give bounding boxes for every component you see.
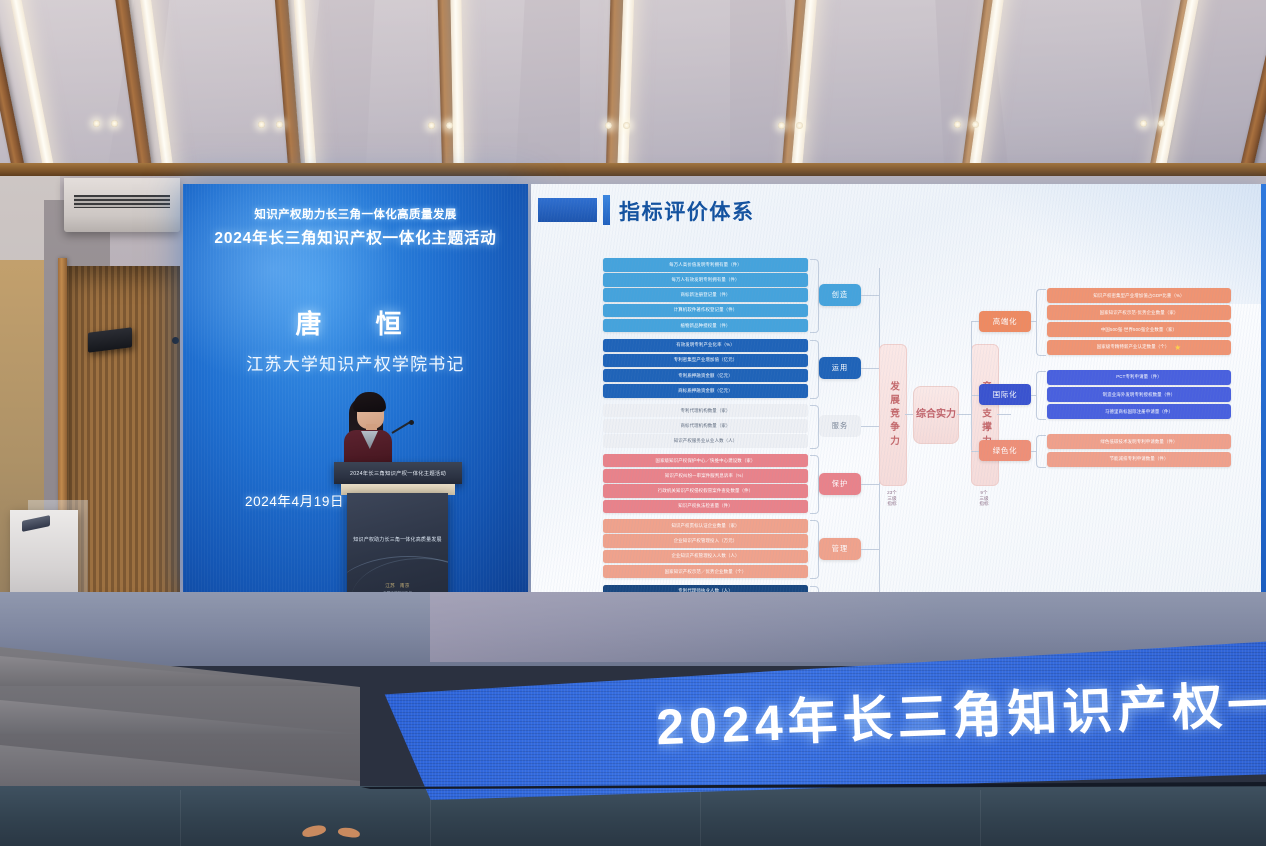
ceiling-downlight — [796, 122, 803, 129]
indicator-group-高端化: 高端化 — [979, 311, 1031, 332]
indicator-row: 植物新品种授权量（件） — [603, 319, 808, 333]
conference-photo: 知识产权助力长三角一体化高质量发展 2024年长三角知识产权一体化主题活动 唐 … — [0, 0, 1266, 846]
indicator-row: 每万人高价值发明专利拥有量（件） — [603, 258, 808, 272]
indicator-row: 商标代理机构数量（家） — [603, 419, 808, 433]
ceiling-downlight — [778, 122, 785, 129]
indicator-group-运用: 运用 — [819, 357, 861, 379]
indicator-row: 商标新注册登记量（件） — [603, 288, 808, 302]
indicator-group-创造: 创造 — [819, 284, 861, 306]
ceiling-downlight — [428, 122, 435, 129]
slide-title-block — [538, 198, 597, 222]
pillar-industrial-support: 产业支撑力 — [971, 344, 999, 486]
indicator-row: 知识产权执法检查量（件） — [603, 500, 808, 514]
title-screen-main-title: 2024年长三角知识产权一体化主题活动 — [183, 226, 528, 248]
diagram-connector — [861, 549, 879, 550]
indicator-row: 知识产权贯标认证企业数量（家） — [603, 519, 808, 533]
ceiling-downlight — [258, 121, 265, 128]
indicator-row: 国家知识产权示范·优势企业数量（家） — [1047, 305, 1231, 320]
indicator-row: 计算机软件著作权登记量（件） — [603, 304, 808, 318]
indicator-row: 企业知识产权管理投入（万元） — [603, 534, 808, 548]
indicator-row: PCT专利申请量（件） — [1047, 370, 1231, 385]
indicator-row: 有效发明专利产业化率（%） — [603, 339, 808, 353]
wall-fixture-icon — [172, 337, 179, 344]
indicator-row: 专利质押融资金额（亿元） — [603, 369, 808, 383]
indicator-row: 知识产权纠纷一审案件服判息诉率（%） — [603, 469, 808, 483]
diagram-connector — [861, 295, 879, 296]
slide-title: 指标评价体系 — [619, 196, 755, 226]
ceiling-downlight — [446, 122, 453, 129]
diagram-connector — [861, 368, 879, 369]
screen-right-edge — [1261, 184, 1266, 594]
title-screen-date: 2024年4月19日 — [245, 490, 344, 510]
air-vent-grille — [74, 195, 170, 208]
pillar-comprehensive-strength: 综合实力 — [913, 386, 959, 444]
indicator-row: 企业知识产权管理投入人数（人） — [603, 550, 808, 564]
indicator-row: 专利代理机构数量（家） — [603, 404, 808, 418]
indicator-row: 知识产权密集型产业增加值占GDP比重（%） — [1047, 288, 1231, 303]
pillar-left-count-note: 23个 三级 指标 — [875, 490, 909, 507]
indicator-row: 国家级知识产权保护中心／快维中心建设数（家） — [603, 454, 808, 468]
indicator-group-服务: 服务 — [819, 415, 861, 437]
indicator-row: 专利密集型产业增加值（亿元） — [603, 354, 808, 368]
ceiling-downlight — [605, 122, 612, 129]
diagram-bracket — [1036, 371, 1046, 420]
diagram-connector — [971, 395, 979, 396]
slide-corner-shade — [966, 184, 1266, 304]
slide-title-tick — [603, 195, 610, 225]
ceiling-edge-trim — [0, 163, 1266, 176]
diagram-connector — [1031, 395, 1036, 396]
diagram-connector — [957, 414, 971, 415]
diagram-connector — [1031, 451, 1036, 452]
speaker-hair-top — [353, 392, 386, 412]
ceiling-downlight — [972, 121, 979, 128]
microphone-head — [409, 420, 414, 425]
diagram-connector — [971, 451, 979, 452]
ceiling-downlight — [1158, 120, 1165, 127]
lectern-signature: 江苏 南京 — [347, 583, 448, 589]
indicator-row: 行政机关知识产权侵权假冒案件查处数量（件） — [603, 484, 808, 498]
ceiling-downlight — [954, 121, 961, 128]
ceiling-downlight — [276, 121, 283, 128]
indicator-row: 国家级专精特新产业认定数量（个）★ — [1047, 340, 1231, 355]
pillar-development-competitiveness: 发展竞争力 — [879, 344, 907, 486]
diagram-connector — [971, 321, 979, 322]
presentation-led-screen: 指标评价体系 每万人高价值发明专利拥有量（件）每万人有效发明专利拥有量（件）商标… — [531, 184, 1266, 594]
diagram-bracket — [1036, 289, 1046, 356]
lectern-top-banner: 2024年长三角知识产权一体化主题活动 — [334, 469, 462, 477]
hall-floor — [0, 786, 1266, 846]
diagram-connector — [997, 414, 1011, 415]
pillar-right-count-note: 9个 三级 指标 — [967, 490, 1001, 507]
diagram-connector — [1031, 321, 1036, 322]
ceiling — [0, 0, 1266, 176]
indicator-row: 商标质押融资金额（亿元） — [603, 384, 808, 398]
diagram-bracket — [810, 340, 819, 399]
diagram-spine — [971, 321, 972, 450]
indicator-row: 绿色低碳技术发明专利申请数量（件） — [1047, 434, 1231, 449]
star-icon: ★ — [1174, 343, 1181, 352]
indicator-row: 国家知识产权示范／优势企业数量（个） — [603, 565, 808, 579]
indicator-group-保护: 保护 — [819, 473, 861, 495]
diagram-bracket — [810, 259, 819, 333]
ceiling-downlight — [111, 120, 118, 127]
diagram-connector — [905, 414, 913, 415]
indicator-row: 中国500强·世界500强企业数量（家） — [1047, 322, 1231, 337]
title-screen-speaker-role: 江苏大学知识产权学院书记 — [183, 350, 528, 375]
diagram-bracket — [1036, 435, 1046, 467]
indicator-row: 每万人有效发明专利拥有量（件） — [603, 273, 808, 287]
indicator-row: 马德里商标国际注册申请量（件） — [1047, 404, 1231, 419]
diagram-connector — [861, 484, 879, 485]
diagram-connector — [861, 426, 879, 427]
title-screen-speaker-name: 唐 恒 — [183, 304, 528, 341]
indicator-row: 制造业海外发明专利授权数量（件） — [1047, 387, 1231, 402]
ceiling-downlight — [93, 120, 100, 127]
title-screen-subtitle: 知识产权助力长三角一体化高质量发展 — [183, 206, 528, 222]
indicator-group-绿色化: 绿色化 — [979, 440, 1031, 461]
ceiling-beam — [1231, 0, 1266, 176]
indicator-group-国际化: 国际化 — [979, 384, 1031, 405]
diagram-bracket — [810, 405, 819, 449]
indicator-row: 知识产权服务业从业人数（人） — [603, 434, 808, 448]
indicator-row: 节能减排专利申请数量（件） — [1047, 452, 1231, 467]
ceiling-downlight — [1140, 120, 1147, 127]
indicator-group-管理: 管理 — [819, 538, 861, 560]
lectern-front-text: 知识产权助力长三角一体化高质量发展 — [347, 536, 448, 543]
ceiling-downlight — [623, 122, 630, 129]
